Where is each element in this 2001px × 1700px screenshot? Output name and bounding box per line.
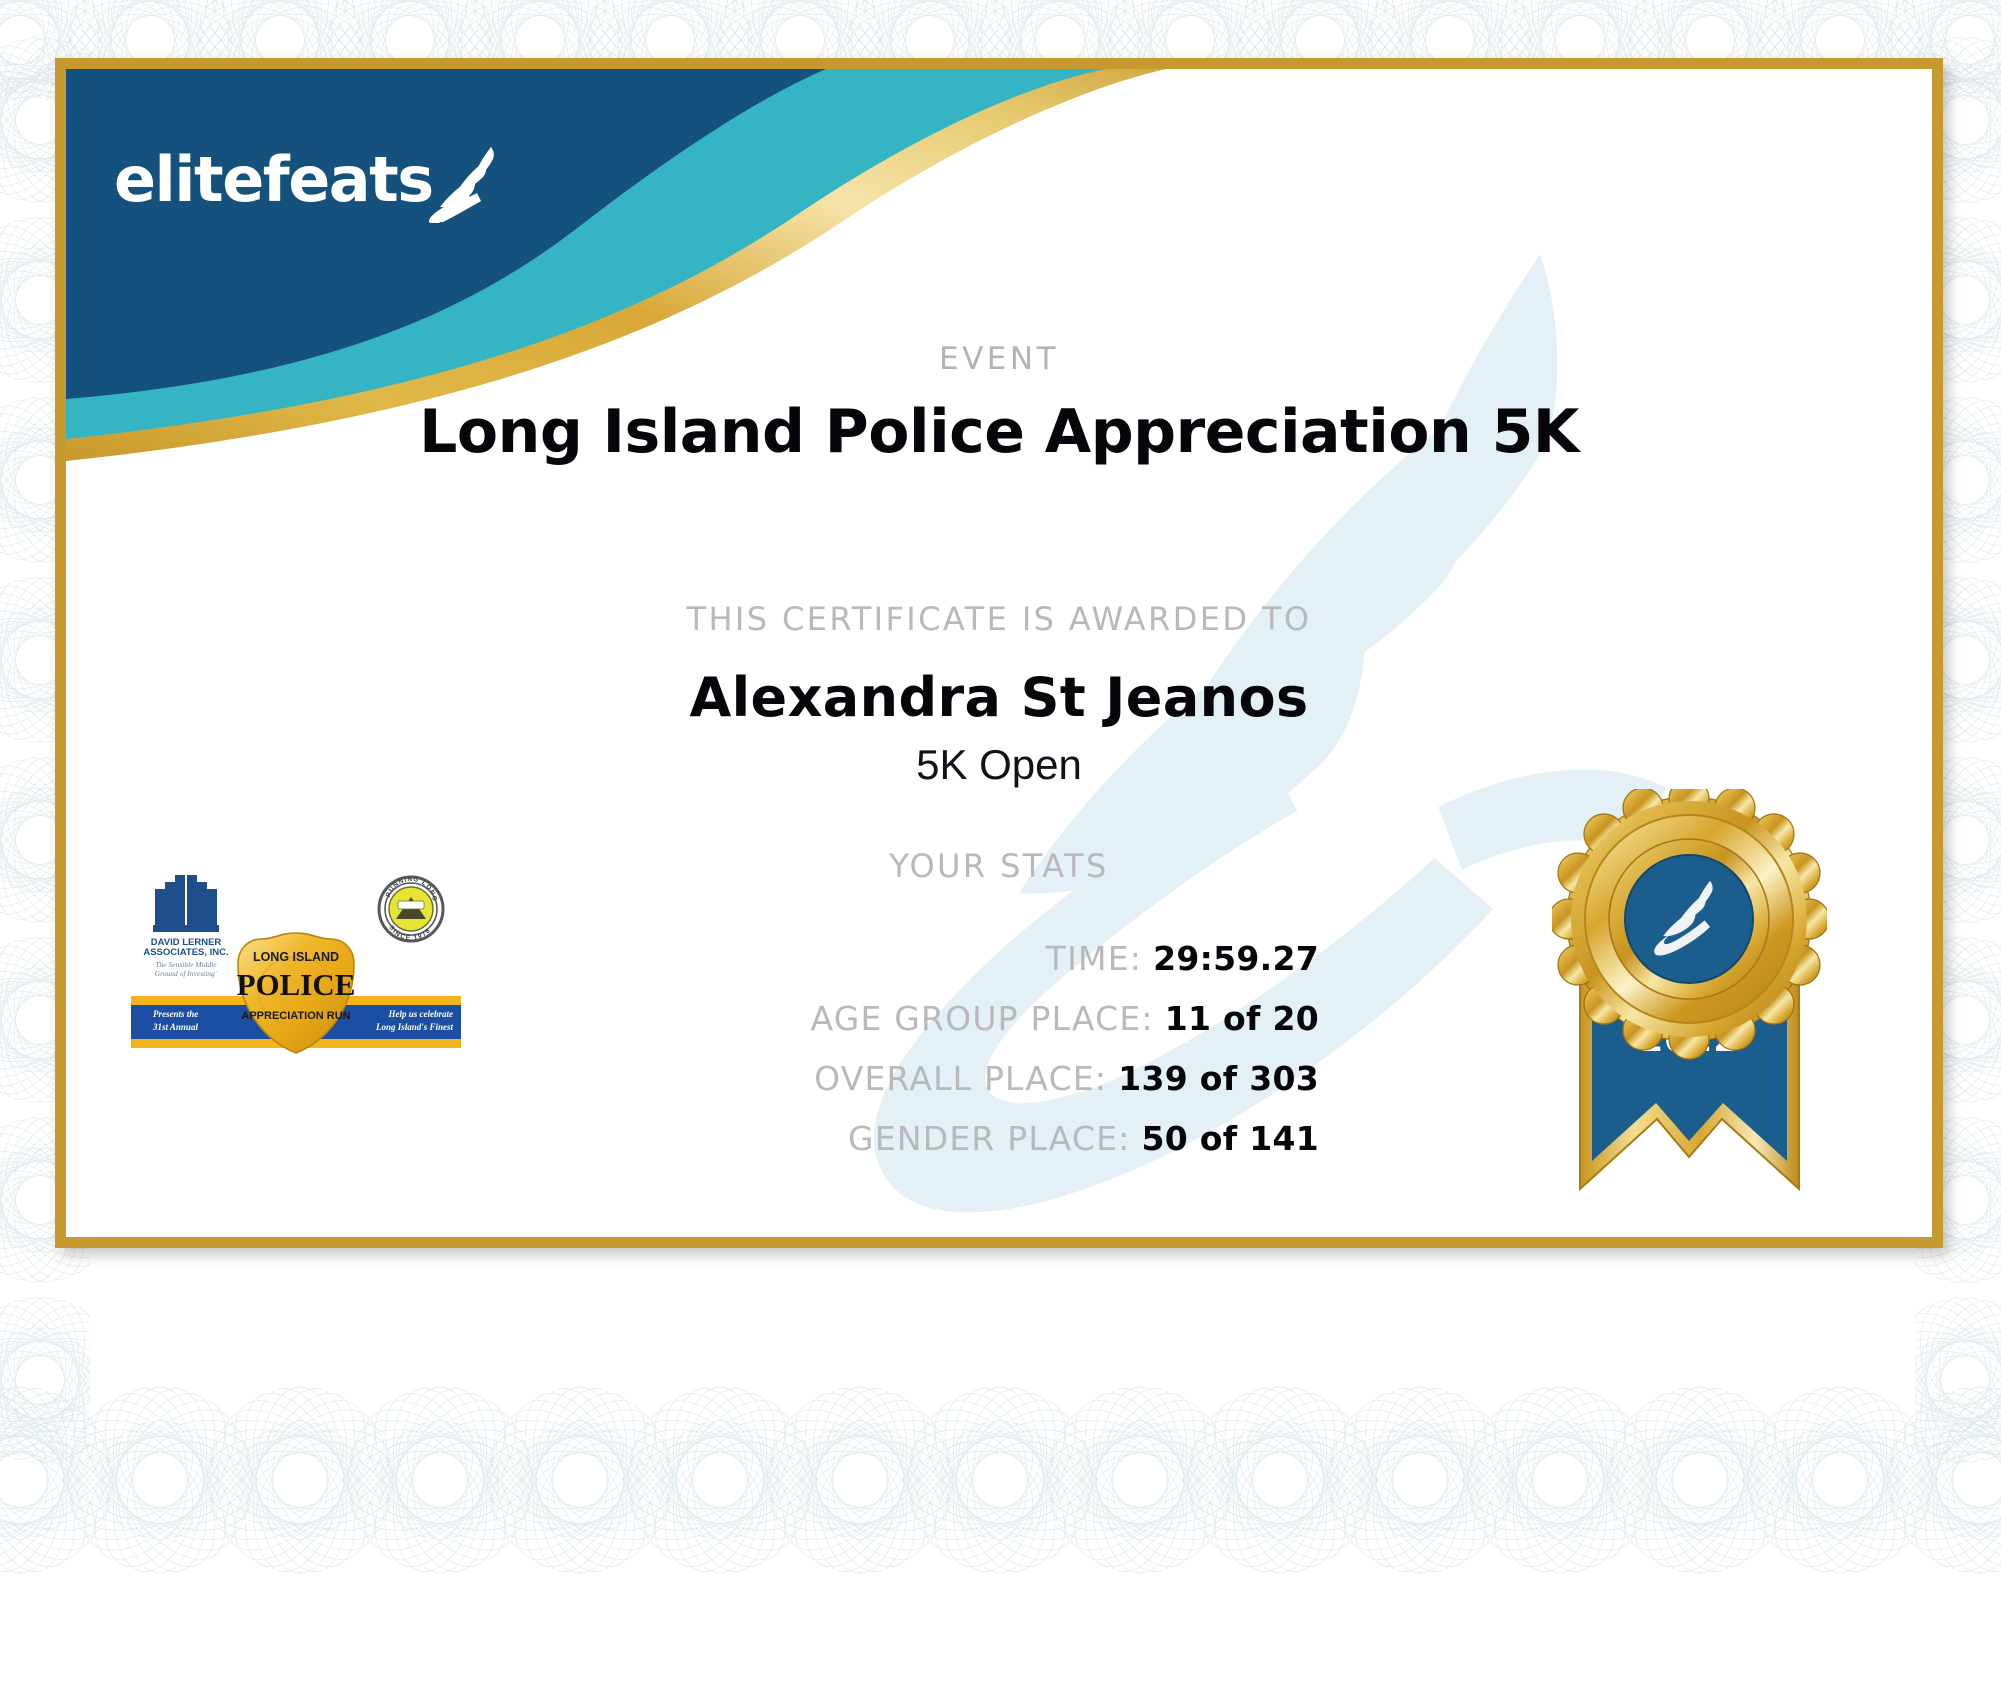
award-ribbon-icon: 2022 [1552, 789, 1827, 1229]
david-lerner-building-icon: DAVID LERNER ASSOCIATES, INC. The Sensib… [143, 875, 228, 978]
lerner-tagline-line1: The Sensible Middle [155, 960, 217, 969]
stat-key-overall-place: OVERALL PLACE: [814, 1059, 1107, 1098]
certificate-content: EVENT Long Island Police Appreciation 5K… [66, 69, 1932, 1237]
stat-value-time: 29:59.27 [1153, 939, 1319, 978]
event-title: Long Island Police Appreciation 5K [66, 397, 1932, 467]
stat-key-age-group-place: AGE GROUP PLACE: [811, 999, 1154, 1038]
sponsor-logos: DAVID LERNER ASSOCIATES, INC. The Sensib… [131, 869, 461, 1099]
recipient-name: Alexandra St Jeanos [66, 666, 1932, 729]
elitefeats-logo: elitefeats [114, 137, 503, 223]
stat-value-overall-place: 139 of 303 [1118, 1059, 1319, 1098]
medal-disc [1552, 789, 1827, 1059]
division-label: 5K Open [66, 741, 1932, 789]
event-label: EVENT [66, 341, 1932, 377]
stat-key-time: TIME: [1046, 939, 1142, 978]
certificate-frame: elitefeats EVENT Long Island Police Appr… [55, 58, 1943, 1248]
stat-row: GENDER PLACE: 50 of 141 [66, 1119, 1319, 1158]
running-long-island-seal-icon: RUNNING LONG ISLAND SINCE 1978 [379, 876, 443, 942]
badge-bottom-text: APPRECIATION RUN [241, 1010, 350, 1022]
lerner-tagline-line2: Ground of Investing´ [155, 969, 218, 978]
badge-top-text: LONG ISLAND [253, 950, 339, 964]
banner-right-line2: Long Island's Finest [375, 1022, 454, 1032]
badge-main-text: POLICE [237, 967, 356, 1002]
banner-left-line1: Presents the [153, 1009, 198, 1019]
stat-key-gender-place: GENDER PLACE: [848, 1119, 1130, 1158]
awarded-to-label: THIS CERTIFICATE IS AWARDED TO [66, 600, 1932, 638]
sponsor-banner-graphic: DAVID LERNER ASSOCIATES, INC. The Sensib… [131, 869, 461, 1099]
certificate-body: elitefeats EVENT Long Island Police Appr… [66, 69, 1932, 1237]
winged-foot-icon [427, 143, 503, 223]
elitefeats-logo-text: elitefeats [114, 149, 433, 211]
banner-right-line1: Help us celebrate [388, 1009, 454, 1019]
stat-value-age-group-place: 11 of 20 [1165, 999, 1319, 1038]
certificate-page: elitefeats EVENT Long Island Police Appr… [0, 0, 2001, 1700]
banner-left-line2: 31st Annual [152, 1022, 198, 1032]
stat-value-gender-place: 50 of 141 [1141, 1119, 1319, 1158]
finisher-medal: 2022 [1552, 789, 1827, 1237]
lerner-name-line2: ASSOCIATES, INC. [143, 947, 228, 958]
